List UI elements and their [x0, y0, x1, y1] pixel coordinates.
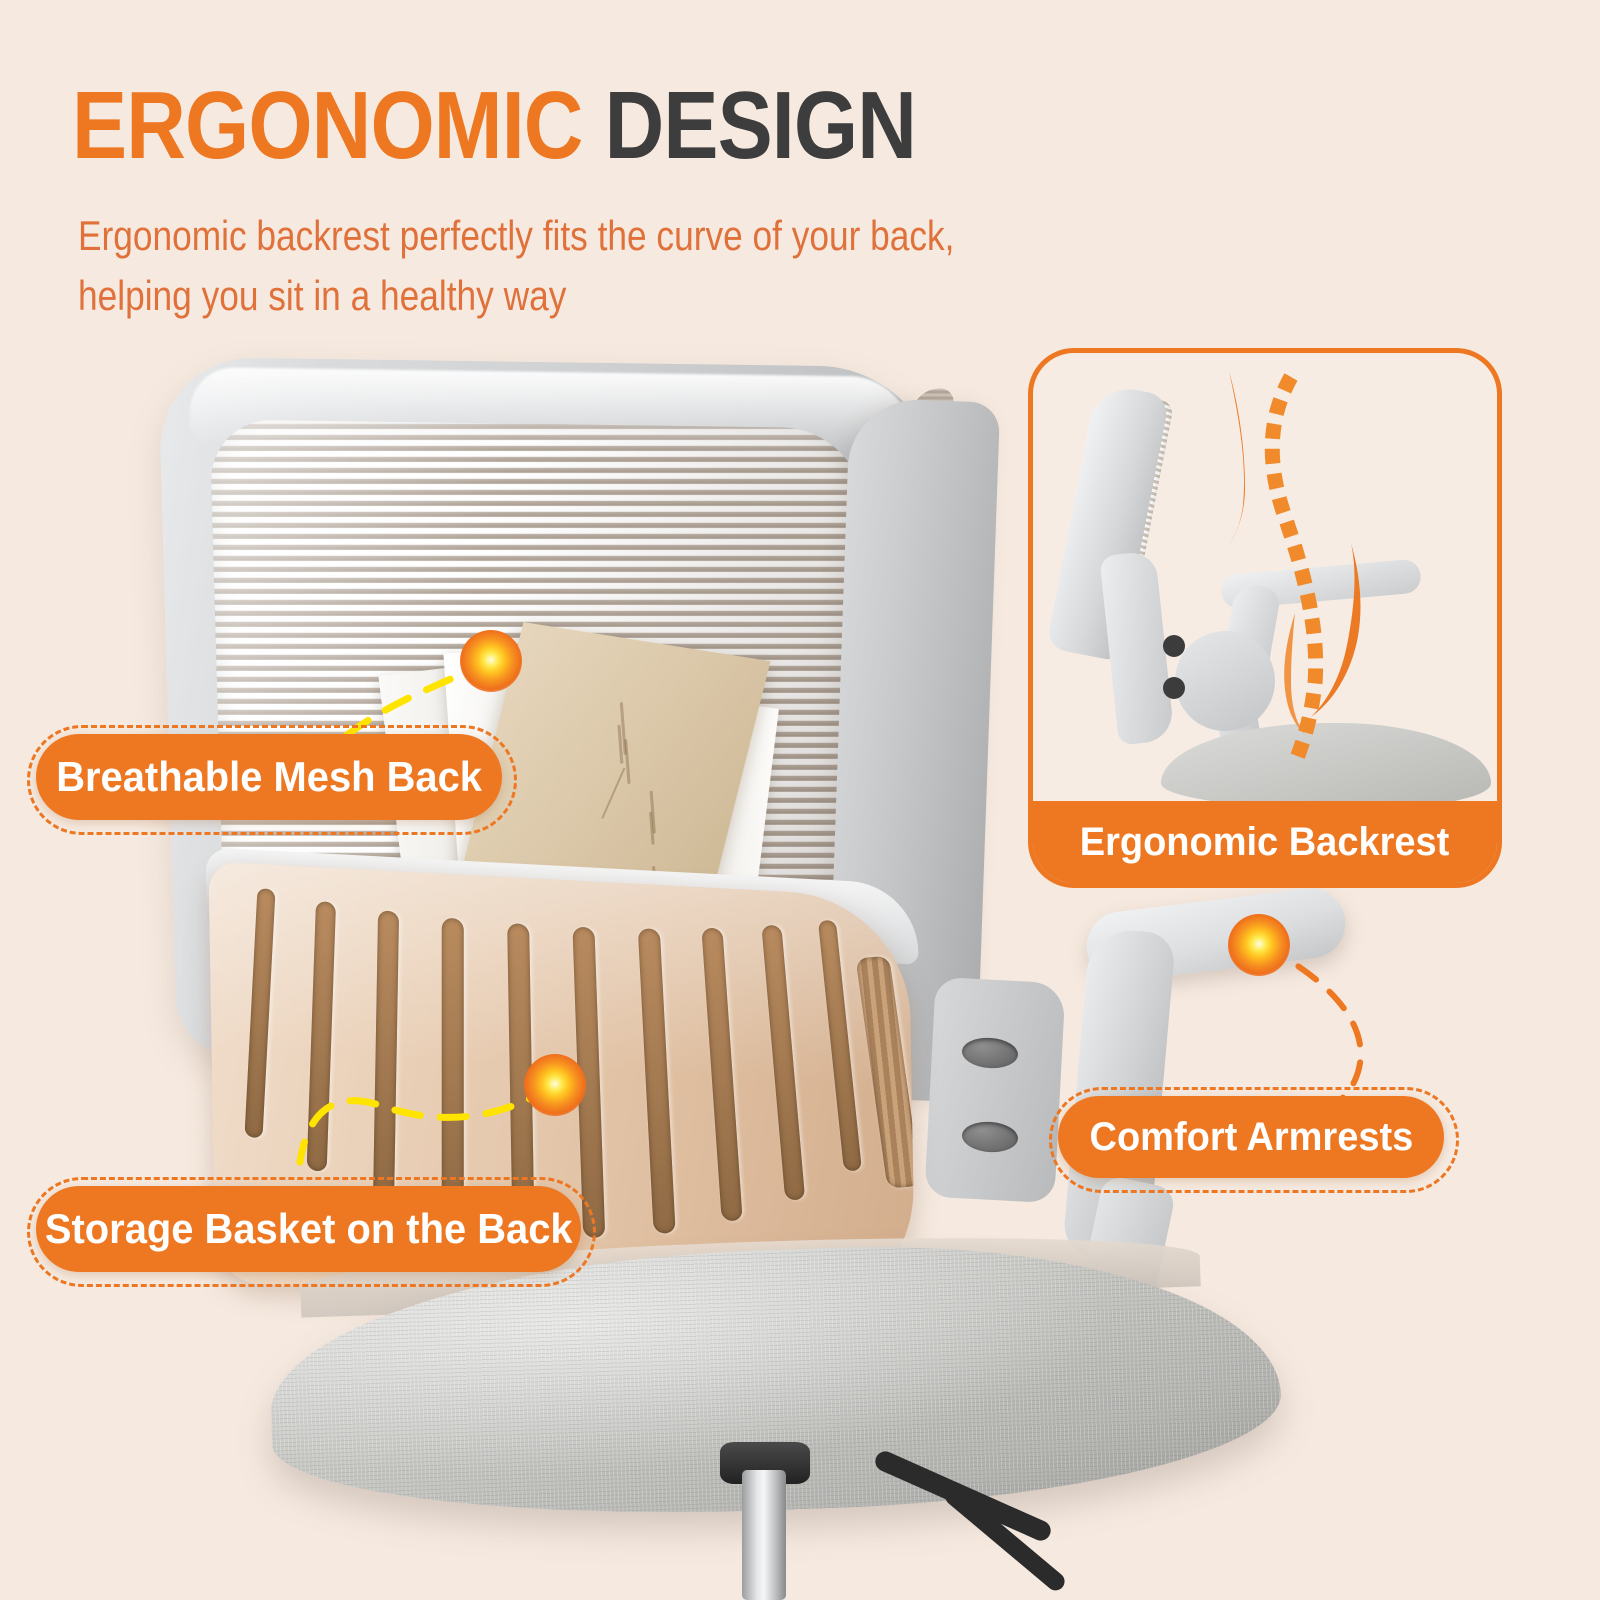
callout-mesh-label: Breathable Mesh Back — [56, 753, 482, 801]
glow-dot-storage — [524, 1054, 586, 1116]
sideview-seat — [1161, 723, 1491, 809]
backrest-top-gloss — [189, 367, 912, 455]
callout-armrest-label: Comfort Armrests — [1089, 1115, 1413, 1160]
card-label-band: Ergonomic Backrest — [1033, 801, 1497, 883]
sideview-pivot-bolt — [1163, 635, 1185, 657]
callout-armrest[interactable]: Comfort Armrests — [1058, 1096, 1444, 1178]
glow-dot-armrest — [1228, 914, 1290, 976]
spine-inner-arc — [1284, 613, 1305, 735]
card-label: Ergonomic Backrest — [1080, 820, 1450, 865]
glow-dot-mesh — [460, 630, 522, 692]
sideview-pivot-hub — [1175, 631, 1275, 731]
infographic-canvas: ERGONOMIC DESIGN Ergonomic backrest perf… — [0, 0, 1600, 1600]
sideview-pivot-bolt — [1163, 677, 1185, 699]
callout-storage-label: Storage Basket on the Back — [45, 1205, 573, 1253]
gas-cylinder — [742, 1470, 786, 1600]
callout-storage[interactable]: Storage Basket on the Back — [36, 1186, 581, 1272]
callout-mesh[interactable]: Breathable Mesh Back — [36, 734, 502, 820]
spine-upper-arc — [1229, 371, 1245, 545]
backrest-bracket — [924, 977, 1065, 1204]
ergonomic-backrest-card: Ergonomic Backrest — [1028, 348, 1502, 888]
